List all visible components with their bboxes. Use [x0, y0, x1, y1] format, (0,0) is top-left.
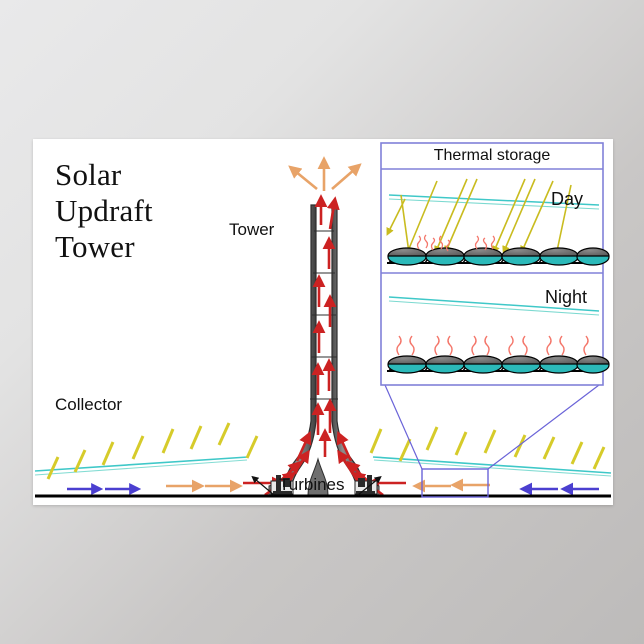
tower-label: Tower — [229, 220, 274, 240]
title-line-2: Updraft — [55, 193, 153, 229]
collector-inflow-arrows-left — [67, 483, 276, 489]
title-line-1: Solar — [55, 157, 153, 193]
thermal-storage-highlight-rect[interactable] — [422, 469, 488, 497]
thermal-storage-title: Thermal storage — [385, 147, 599, 165]
day-label: Day — [551, 189, 583, 210]
thermal-storage-inset — [381, 143, 609, 385]
screenshot-stage: Solar Updraft Tower Tower Collector Turb… — [0, 0, 644, 644]
collector-inflow-arrows-right — [375, 483, 599, 489]
page-title: Solar Updraft Tower — [55, 157, 153, 265]
solar-updraft-tower-poster: Solar Updraft Tower Tower Collector Turb… — [33, 139, 613, 505]
collector-label: Collector — [55, 395, 122, 415]
tower-plume-arrows — [295, 165, 355, 191]
turbines-label: Turbines — [279, 475, 345, 495]
night-label: Night — [545, 287, 587, 308]
thermal-storage-callout-lines — [385, 385, 599, 469]
title-line-3: Tower — [55, 229, 153, 265]
